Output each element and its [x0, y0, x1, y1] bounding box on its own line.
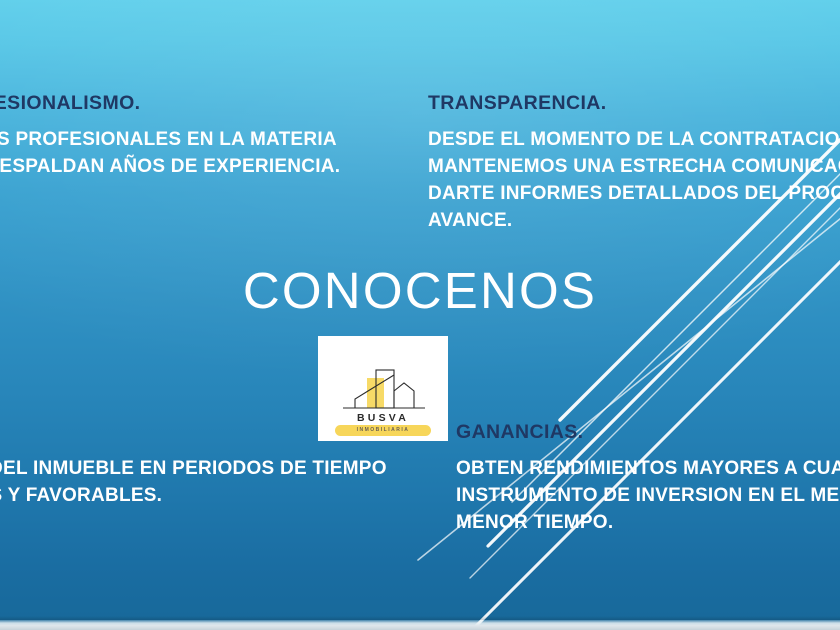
block-body-line: CORTOS Y FAVORABLES. [0, 483, 387, 510]
block-body-venta: VENTA DEL INMUEBLE EN PERIODOS DE TIEMPO… [0, 456, 387, 510]
page-bottom-edge [0, 620, 840, 630]
content-block-venta: VENTA. VENTA DEL INMUEBLE EN PERIODOS DE… [0, 421, 387, 510]
block-body-line: INSTRUMENTO DE INVERSION EN EL MERCADO E… [456, 483, 840, 510]
content-block-transparencia: TRANSPARENCIA. DESDE EL MOMENTO DE LA CO… [428, 92, 840, 235]
block-body-profesionalismo: SOMOS PROFESIONALES EN LA MATERIA QUE RE… [0, 127, 340, 181]
building-mark-icon [335, 366, 431, 412]
block-body-transparencia: DESDE EL MOMENTO DE LA CONTRATACION MANT… [428, 127, 840, 235]
block-body-line: DARTE INFORMES DETALLADOS DEL PROCESO Y … [428, 181, 840, 208]
block-heading-transparencia: TRANSPARENCIA. [428, 92, 840, 114]
slide-title: CONOCENOS [0, 265, 840, 316]
block-body-line: OBTEN RENDIMIENTOS MAYORES A CUALQUIER [456, 456, 840, 483]
block-heading-venta: VENTA. [0, 421, 387, 443]
block-body-line: VENTA DEL INMUEBLE EN PERIODOS DE TIEMPO [0, 456, 387, 483]
block-body-line: QUE RESPALDAN AÑOS DE EXPERIENCIA. [0, 154, 340, 181]
block-body-line: MANTENEMOS UNA ESTRECHA COMUNICACION AL [428, 154, 840, 181]
block-body-ganancias: OBTEN RENDIMIENTOS MAYORES A CUALQUIER I… [456, 456, 840, 537]
block-heading-profesionalismo: PROFESIONALISMO. [0, 92, 340, 114]
block-heading-ganancias: GANANCIAS. [456, 421, 840, 443]
content-block-profesionalismo: PROFESIONALISMO. SOMOS PROFESIONALES EN … [0, 92, 340, 181]
content-block-ganancias: GANANCIAS. OBTEN RENDIMIENTOS MAYORES A … [456, 421, 840, 537]
block-body-line: MENOR TIEMPO. [456, 510, 840, 537]
block-body-line: DESDE EL MOMENTO DE LA CONTRATACION [428, 127, 840, 154]
block-body-line: SOMOS PROFESIONALES EN LA MATERIA [0, 127, 340, 154]
slide-canvas: PROFESIONALISMO. SOMOS PROFESIONALES EN … [0, 0, 840, 630]
block-body-line: AVANCE. [428, 208, 840, 235]
